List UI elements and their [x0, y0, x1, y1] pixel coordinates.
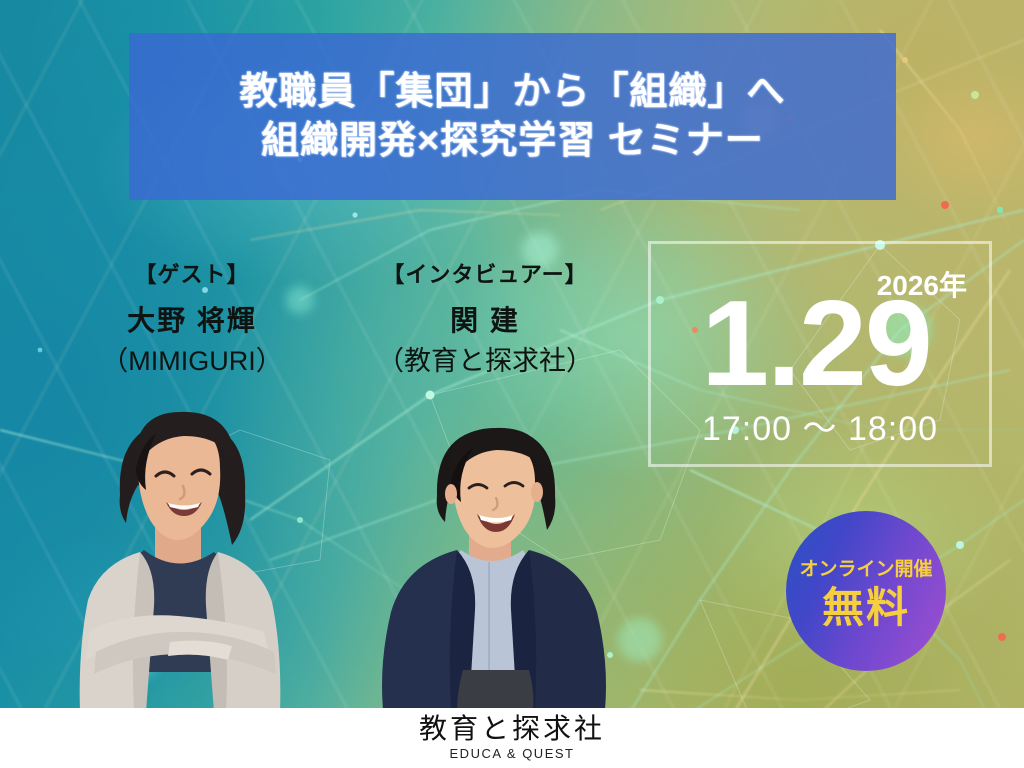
- speaker-name: 大野 将輝: [42, 301, 342, 342]
- company-logo-en: EDUCA & QUEST: [450, 746, 575, 761]
- title-line-1: 教職員「集団」から「組織」へ: [239, 70, 785, 115]
- speaker-role-label: 【インタビュアー】: [320, 258, 650, 291]
- badge-mode-label: オンライン開催: [799, 554, 932, 581]
- seminar-poster: 教職員「集団」から「組織」へ 組織開発×探究学習 セミナー 【ゲスト】 大野 将…: [0, 0, 1024, 768]
- title-line-2: 組織開発×探究学習 セミナー: [261, 119, 764, 164]
- speaker-block-guest: 【ゲスト】 大野 将輝 （MIMIGURI）: [42, 258, 342, 381]
- badge-price-label: 無料: [822, 587, 910, 629]
- speaker-role-label: 【ゲスト】: [42, 258, 342, 291]
- speaker-photo-interviewer: [365, 418, 615, 710]
- event-date-box: 2026年 1.29 17:00 〜 18:00: [648, 241, 992, 467]
- speaker-organization: （教育と探求社）: [320, 342, 650, 381]
- speaker-block-interviewer: 【インタビュアー】 関 建 （教育と探求社）: [320, 258, 650, 381]
- event-time: 17:00 〜 18:00: [651, 401, 989, 450]
- company-logo-jp: 教育と探求社: [419, 715, 605, 744]
- title-banner: 教職員「集団」から「組織」へ 組織開発×探究学習 セミナー: [129, 33, 896, 200]
- online-free-badge: オンライン開催 無料: [786, 511, 946, 671]
- speaker-organization: （MIMIGURI）: [42, 342, 342, 381]
- footer-logo-bar: 教育と探求社 EDUCA & QUEST: [0, 708, 1024, 768]
- speaker-name: 関 建: [320, 301, 650, 342]
- speaker-photo-guest: [52, 390, 302, 710]
- event-date: 1.29: [651, 282, 981, 404]
